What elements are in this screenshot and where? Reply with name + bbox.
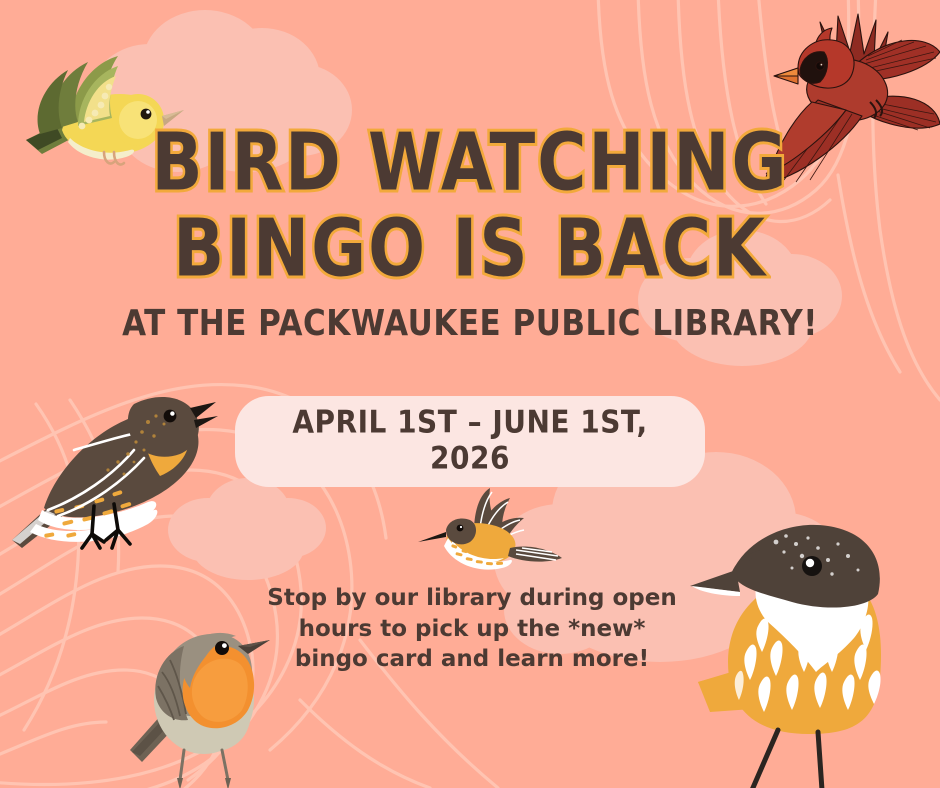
chickadee-perched-bird-icon bbox=[672, 512, 940, 788]
page-title: BIRD WATCHING BINGO IS BACK bbox=[0, 126, 940, 275]
title-line-1: BIRD WATCHING bbox=[0, 126, 940, 201]
hummingbird-flying-bird-icon bbox=[418, 486, 566, 584]
poster-subtitle: AT THE PACKWAUKEE PUBLIC LIBRARY! bbox=[0, 303, 940, 344]
date-range-text: APRIL 1ST – JUNE 1ST, 2026 bbox=[277, 404, 663, 477]
european-robin-bird-icon bbox=[122, 602, 280, 788]
title-line-2: BINGO IS BACK bbox=[0, 212, 940, 287]
poster-canvas: BIRD WATCHING BINGO IS BACK AT THE PACKW… bbox=[0, 0, 940, 788]
date-range-badge: APRIL 1ST – JUNE 1ST, 2026 bbox=[235, 396, 705, 487]
poster-body-text: Stop by our library during open hours to… bbox=[262, 583, 682, 675]
orange-throated-flycatcher-bird-icon bbox=[8, 358, 220, 550]
